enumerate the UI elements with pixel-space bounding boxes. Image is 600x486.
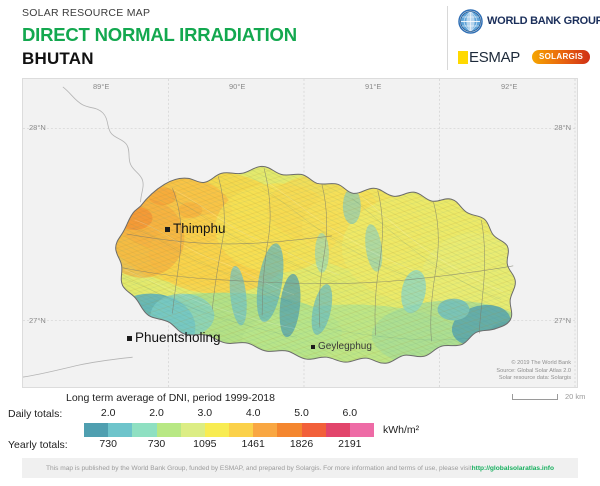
legend-ramp-cell-10	[326, 423, 350, 437]
legend-daily-value-3: 4.0	[246, 407, 261, 419]
legend-ramp-cell-6	[229, 423, 253, 437]
city-marker-phuentsholing[interactable]: Phuentsholing	[127, 331, 221, 345]
legend-yearly-value-5: 2191	[338, 438, 361, 450]
lat-label-27n-left: 27°N	[29, 316, 46, 325]
city-dot-icon	[127, 336, 132, 341]
legend-ramp-cell-1	[108, 423, 132, 437]
title-block: SOLAR RESOURCE MAP DIRECT NORMAL IRRADIA…	[22, 6, 297, 70]
world-bank-logo: WORLD BANK GROUP	[458, 8, 594, 34]
lon-label-90e: 90°E	[229, 82, 245, 91]
legend-yearly-value-2: 1095	[193, 438, 216, 450]
legend-daily-value-2: 3.0	[198, 407, 213, 419]
map-raster	[23, 79, 577, 387]
legend-daily-value-0: 2.0	[101, 407, 116, 419]
legend-yearly-value-3: 1461	[241, 438, 264, 450]
lon-label-92e: 92°E	[501, 82, 517, 91]
map-attribution: © 2019 The World Bank Source: Global Sol…	[496, 360, 571, 383]
lat-label-27n-right: 27°N	[554, 316, 571, 325]
esmap-label: ESMAP	[469, 50, 520, 65]
legend-daily-value-1: 2.0	[149, 407, 164, 419]
legend: Long term average of DNI, period 1999-20…	[0, 392, 600, 454]
brand-row: ESMAP SOLARGIS	[458, 48, 594, 66]
city-label-thimphu: Thimphu	[173, 222, 226, 236]
legend-yearly-label: Yearly totals:	[8, 439, 68, 451]
legend-yearly-value-1: 730	[148, 438, 166, 450]
esmap-logo: ESMAP	[458, 49, 520, 66]
legend-ramp-cell-0	[84, 423, 108, 437]
legend-color-ramp	[84, 423, 374, 437]
legend-yearly-value-0: 730	[99, 438, 117, 450]
legend-ramp-cell-4	[181, 423, 205, 437]
legend-daily-label: Daily totals:	[8, 408, 62, 420]
footer-text: This map is published by the World Bank …	[46, 465, 472, 472]
country-title: BHUTAN	[22, 48, 297, 70]
legend-ramp-cell-5	[205, 423, 229, 437]
legend-ramp-cell-8	[277, 423, 301, 437]
legend-ramp-cell-9	[302, 423, 326, 437]
legend-daily-value-4: 5.0	[294, 407, 309, 419]
legend-yearly-ticks: 7307301095146118262191	[84, 438, 374, 452]
legend-title: Long term average of DNI, period 1999-20…	[66, 392, 275, 404]
page-title: DIRECT NORMAL IRRADIATION	[22, 23, 297, 47]
globe-icon	[458, 9, 483, 34]
city-label-geylegphug: Geylegphug	[318, 340, 372, 354]
legend-daily-value-5: 6.0	[343, 407, 358, 419]
lon-label-89e: 89°E	[93, 82, 109, 91]
legend-daily-ticks: 2.02.03.04.05.06.0	[84, 407, 374, 421]
page-kicker: SOLAR RESOURCE MAP	[22, 6, 297, 20]
city-dot-icon	[311, 345, 315, 349]
city-dot-icon	[165, 227, 170, 232]
legend-yearly-value-4: 1826	[290, 438, 313, 450]
header-divider	[447, 6, 448, 70]
legend-ramp-cell-2	[132, 423, 156, 437]
legend-unit-label: kWh/m²	[383, 424, 419, 436]
legend-ramp-cell-3	[157, 423, 181, 437]
lat-label-28n-right: 28°N	[554, 123, 571, 132]
world-bank-label: WORLD BANK GROUP	[487, 15, 600, 27]
city-marker-thimphu[interactable]: Thimphu	[165, 222, 226, 236]
legend-ramp-cell-11	[350, 423, 374, 437]
esmap-mark-icon	[458, 51, 468, 64]
map-canvas[interactable]: 89°E 90°E 91°E 92°E 28°N 27°N 28°N 27°N …	[22, 78, 578, 388]
page-footer: This map is published by the World Bank …	[22, 458, 578, 478]
lat-label-28n-left: 28°N	[29, 123, 46, 132]
city-label-phuentsholing: Phuentsholing	[135, 331, 221, 345]
legend-ramp-cell-7	[253, 423, 277, 437]
solargis-logo: SOLARGIS	[532, 50, 590, 64]
logo-block: WORLD BANK GROUP ESMAP SOLARGIS	[458, 8, 594, 66]
city-marker-geylegphug[interactable]: Geylegphug	[311, 340, 372, 354]
page-header: SOLAR RESOURCE MAP DIRECT NORMAL IRRADIA…	[0, 0, 600, 78]
lon-label-91e: 91°E	[365, 82, 381, 91]
footer-link[interactable]: http://globalsolaratlas.info	[472, 465, 554, 472]
